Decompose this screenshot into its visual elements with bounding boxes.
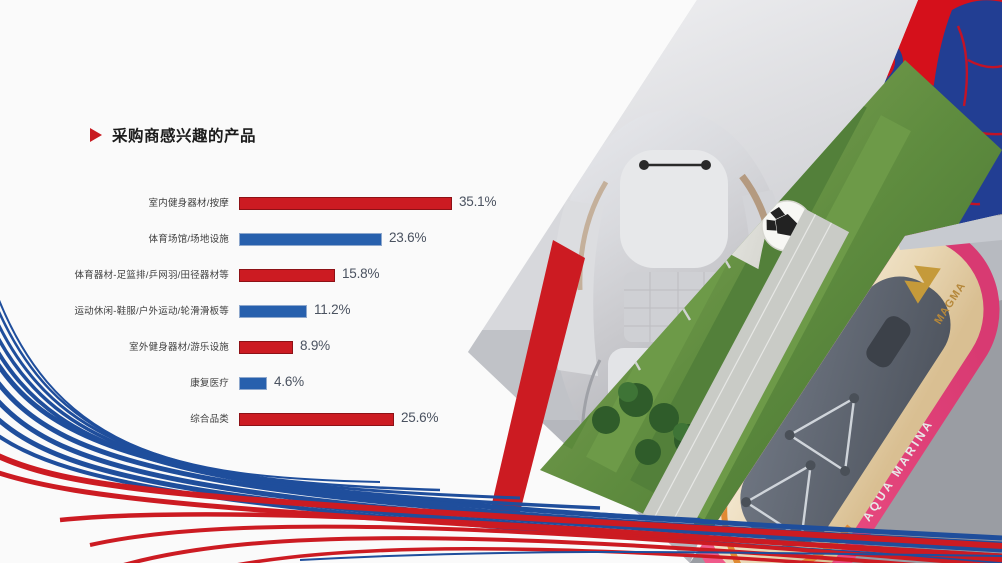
bar-category-label: 综合品类 xyxy=(0,415,229,425)
bar-row: 室内健身器材/按摩35.1% xyxy=(0,186,470,222)
paddleboard-photo: MAGMA AQUA MARINA xyxy=(656,180,1002,563)
bar-category-label: 室内健身器材/按摩 xyxy=(0,199,229,209)
triangle-right-icon xyxy=(90,128,102,142)
svg-text:FOOTBALL: FOOTBALL xyxy=(695,187,741,257)
bar-segment xyxy=(239,269,335,282)
svg-text:MAGMA: MAGMA xyxy=(932,280,968,327)
bar-value-label: 25.6% xyxy=(401,410,438,425)
bar-category-label: 体育场馆/场地设施 xyxy=(0,235,229,245)
chart-title: 采购商感兴趣的产品 xyxy=(90,124,256,146)
bar-value-label: 23.6% xyxy=(389,230,426,245)
bar-category-label: 体育器材-足篮排/乒网羽/田径器材等 xyxy=(0,271,229,281)
bar-value-label: 11.2% xyxy=(314,302,350,317)
svg-text:AQUA MARINA: AQUA MARINA xyxy=(860,416,937,524)
bar-value-label: 15.8% xyxy=(342,266,379,281)
page-title: 采购商感兴趣的产品 xyxy=(112,124,256,146)
bar-value-label: 8.9% xyxy=(300,338,330,353)
tennis-player-illustration xyxy=(818,0,1002,316)
bar-segment xyxy=(239,233,382,246)
stadium-photo: FOOTBALL STADIUM xyxy=(498,0,1002,563)
bar-category-label: 康复医疗 xyxy=(0,379,229,389)
bar-segment xyxy=(239,197,452,210)
bar-value-label: 4.6% xyxy=(274,374,304,389)
bar-segment xyxy=(239,305,307,318)
bar-row: 综合品类25.6% xyxy=(0,402,470,438)
red-diagonal-stripe xyxy=(490,240,585,512)
bar-segment xyxy=(239,413,394,426)
bar-chart: 采购商感兴趣的产品 室内健身器材/按摩35.1%体育场馆/场地设施23.6%体育… xyxy=(0,0,470,563)
bar-list: 室内健身器材/按摩35.1%体育场馆/场地设施23.6%体育器材-足篮排/乒网羽… xyxy=(0,186,470,438)
bar-segment xyxy=(239,341,293,354)
slide-canvas: FOOTBALL STADIUM xyxy=(0,0,1002,563)
massage-chair-photo xyxy=(440,0,940,563)
bar-row: 运动休闲-鞋服/户外运动/轮滑滑板等11.2% xyxy=(0,294,470,330)
bar-category-label: 运动休闲-鞋服/户外运动/轮滑滑板等 xyxy=(0,307,229,317)
bar-row: 体育器材-足篮排/乒网羽/田径器材等15.8% xyxy=(0,258,470,294)
bar-category-label: 室外健身器材/游乐设施 xyxy=(0,343,229,353)
bar-row: 室外健身器材/游乐设施8.9% xyxy=(0,330,470,366)
red-corner-panel xyxy=(833,0,1002,563)
bar-segment xyxy=(239,377,267,390)
bar-row: 体育场馆/场地设施23.6% xyxy=(0,222,470,258)
svg-text:STADIUM: STADIUM xyxy=(714,196,755,254)
bar-row: 康复医疗4.6% xyxy=(0,366,470,402)
bar-value-label: 35.1% xyxy=(459,194,496,209)
